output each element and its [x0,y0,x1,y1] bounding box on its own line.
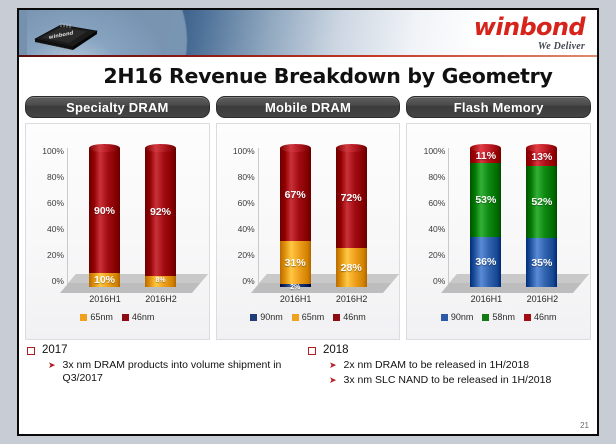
panel-heading: Mobile DRAM [216,96,401,118]
bar-segment-46nm[interactable]: 11% [470,148,501,163]
bar-2016H1[interactable]: 10%90% [89,148,120,287]
bar-segment-65nm[interactable]: 8% [145,276,176,287]
panel-body: 100%80%60%40%20%0%10%90%8%92%2016H12016H… [25,123,210,340]
segment-value-label: 2% [274,284,317,291]
legend-swatch-icon [80,314,87,321]
note-bullet-item: ➤2x nm DRAM to be released in 1H/2018 [329,359,583,372]
y-tick: 40% [221,224,255,234]
header-rule [19,55,597,57]
segment-value-label: 90% [83,205,126,217]
notes-row: 2017➤3x nm DRAM products into volume shi… [19,340,597,424]
note-text: 3x nm DRAM products into volume shipment… [63,359,302,385]
segment-value-label: 36% [464,256,507,268]
memory-chip-icon: winbond [31,19,101,53]
y-tick: 60% [221,198,255,208]
legend-label: 46nm [534,312,557,322]
segment-value-label: 92% [139,206,182,218]
bar-2016H2[interactable]: 8%92% [145,148,176,287]
note-year: 2018 [323,344,349,356]
y-tick: 0% [411,276,445,286]
note-column-2018: 2018➤2x nm DRAM to be released in 1H/201… [308,344,589,424]
category-label: 2016H1 [463,294,509,304]
note-text: 2x nm DRAM to be released in 1H/2018 [344,359,530,372]
logo-tagline: We Deliver [474,41,585,52]
note-bullet-item: ➤3x nm SLC NAND to be released in 1H/201… [329,374,583,387]
segment-value-label: 35% [520,257,563,269]
charts-row: Specialty DRAM100%80%60%40%20%0%10%90%8%… [19,94,597,340]
category-label: 2016H1 [273,294,319,304]
cylinder-top [336,144,367,152]
logo-wordmark: winbond [474,15,585,39]
segment-value-label: 67% [274,189,317,201]
square-bullet-icon [27,347,35,355]
bar-segment-46nm[interactable]: 92% [145,148,176,276]
segment-value-label: 11% [464,150,507,162]
chart-panel-3: Flash Memory100%80%60%40%20%0%36%53%11%3… [406,96,591,340]
bar-segment-90nm[interactable]: 35% [526,238,557,287]
cylinder-top [89,144,120,152]
y-tick: 40% [30,224,64,234]
chart-panel-2: Mobile DRAM100%80%60%40%20%0%2%31%67%28%… [216,96,401,340]
category-label: 2016H2 [329,294,375,304]
panel-heading: Flash Memory [406,96,591,118]
y-axis-labels: 100%80%60%40%20%0% [30,146,64,286]
y-tick: 0% [221,276,255,286]
y-axis-labels: 100%80%60%40%20%0% [221,146,255,286]
note-year-heading: 2017 [27,344,302,356]
slide-header: winbond winbond We Deliver [19,10,597,57]
bar-2016H2[interactable]: 28%72% [336,148,367,287]
legend-label: 65nm [302,312,325,322]
bar-2016H1[interactable]: 36%53%11% [470,148,501,287]
page-title: 2H16 Revenue Breakdown by Geometry [103,64,552,88]
segment-value-label: 52% [520,196,563,208]
panel-heading: Specialty DRAM [25,96,210,118]
bar-2016H2[interactable]: 35%52%13% [526,148,557,287]
arrow-bullet-icon: ➤ [48,359,56,372]
segment-value-label: 31% [274,257,317,269]
note-column-2017: 2017➤3x nm DRAM products into volume shi… [27,344,308,424]
y-tick: 80% [221,172,255,182]
legend-label: 46nm [343,312,366,322]
y-tick: 100% [221,146,255,156]
title-bar: 2H16 Revenue Breakdown by Geometry [19,57,597,94]
y-tick: 60% [30,198,64,208]
y-tick: 20% [411,250,445,260]
y-tick: 20% [221,250,255,260]
legend-label: 90nm [260,312,283,322]
panel-body: 100%80%60%40%20%0%2%31%67%28%72%2016H120… [216,123,401,340]
legend-label: 90nm [451,312,474,322]
panel-body: 100%80%60%40%20%0%36%53%11%35%52%13%2016… [406,123,591,340]
presentation-slide: winbond winbond We Deliver 2H16 Revenue … [17,8,599,436]
legend-swatch-icon [482,314,489,321]
bars-area: 2%31%67%28%72% [258,148,398,287]
bar-segment-46nm[interactable]: 67% [280,148,311,241]
arrow-bullet-icon: ➤ [329,359,337,372]
bars-area: 10%90%8%92% [67,148,207,287]
bar-segment-58nm[interactable]: 52% [526,166,557,238]
legend-item-90nm[interactable]: 90nm [250,312,283,322]
bar-2016H1[interactable]: 2%31%67% [280,148,311,287]
bar-segment-46nm[interactable]: 90% [89,148,120,273]
segment-value-label: 28% [330,262,373,274]
y-tick: 20% [30,250,64,260]
cylinder-top [145,144,176,152]
bar-segment-58nm[interactable]: 53% [470,163,501,237]
bar-segment-65nm[interactable]: 31% [280,241,311,284]
note-year: 2017 [42,344,68,356]
y-tick: 80% [30,172,64,182]
winbond-logo: winbond We Deliver [474,15,585,52]
segment-value-label: 72% [330,192,373,204]
bars-area: 36%53%11%35%52%13% [448,148,588,287]
category-label: 2016H2 [519,294,565,304]
legend-item-90nm[interactable]: 90nm [441,312,474,322]
legend-label: 65nm [90,312,113,322]
legend-item-65nm[interactable]: 65nm [292,312,325,322]
segment-value-label: 10% [83,274,126,286]
y-tick: 60% [411,198,445,208]
chart-legend: 90nm65nm46nm [217,312,400,322]
legend-item-46nm[interactable]: 46nm [524,312,557,322]
legend-item-58nm[interactable]: 58nm [482,312,515,322]
legend-swatch-icon [250,314,257,321]
legend-swatch-icon [122,314,129,321]
chart-panel-1: Specialty DRAM100%80%60%40%20%0%10%90%8%… [25,96,210,340]
y-tick: 0% [30,276,64,286]
arrow-bullet-icon: ➤ [329,374,337,387]
legend-item-65nm[interactable]: 65nm [80,312,113,322]
segment-value-label: 8% [139,277,182,284]
legend-item-46nm[interactable]: 46nm [122,312,155,322]
bar-segment-90nm[interactable]: 2% [280,284,311,287]
legend-swatch-icon [333,314,340,321]
bar-segment-65nm[interactable]: 28% [336,248,367,287]
y-tick: 80% [411,172,445,182]
note-year-heading: 2018 [308,344,583,356]
category-label: 2016H1 [82,294,128,304]
chart-legend: 65nm46nm [26,312,209,322]
cylinder-top [280,144,311,152]
category-label: 2016H2 [138,294,184,304]
y-tick: 40% [411,224,445,234]
chart-legend: 90nm58nm46nm [407,312,590,322]
bar-segment-46nm[interactable]: 13% [526,148,557,166]
legend-item-46nm[interactable]: 46nm [333,312,366,322]
legend-swatch-icon [292,314,299,321]
page-number: 21 [580,421,589,430]
legend-swatch-icon [441,314,448,321]
note-text: 3x nm SLC NAND to be released in 1H/2018 [344,374,552,387]
note-bullet-item: ➤3x nm DRAM products into volume shipmen… [48,359,302,385]
legend-label: 58nm [492,312,515,322]
y-axis-labels: 100%80%60%40%20%0% [411,146,445,286]
y-tick: 100% [411,146,445,156]
segment-value-label: 53% [464,194,507,206]
bar-segment-65nm[interactable]: 10% [89,273,120,287]
segment-value-label: 13% [520,151,563,163]
square-bullet-icon [308,347,316,355]
bar-segment-46nm[interactable]: 72% [336,148,367,248]
bar-segment-90nm[interactable]: 36% [470,237,501,287]
legend-swatch-icon [524,314,531,321]
legend-label: 46nm [132,312,155,322]
y-tick: 100% [30,146,64,156]
